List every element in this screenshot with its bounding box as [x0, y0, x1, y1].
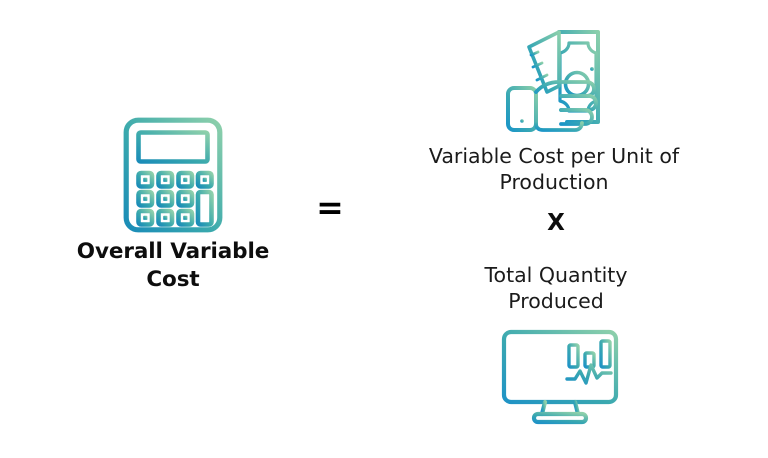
variable-cost-per-unit-label-line1: Variable Cost per Unit of: [396, 143, 712, 169]
variable-cost-per-unit-label-line2: Production: [396, 169, 712, 195]
calculator-icon: [123, 117, 223, 233]
overall-variable-cost-label-line1: Overall Variable: [38, 238, 308, 266]
overall-variable-cost-label: Overall Variable Cost: [38, 238, 308, 295]
total-quantity-produced-label: Total Quantity Produced: [436, 262, 676, 314]
total-quantity-produced-label-line2: Produced: [436, 288, 676, 314]
overall-variable-cost-label-line2: Cost: [38, 266, 308, 294]
diagram-canvas: Overall Variable Cost =: [0, 0, 768, 458]
multiply-operator: X: [476, 212, 636, 235]
cash-in-hand-icon: [503, 26, 605, 136]
variable-cost-per-unit-label: Variable Cost per Unit of Production: [396, 143, 712, 195]
equals-operator: =: [295, 191, 365, 224]
total-quantity-produced-label-line1: Total Quantity: [436, 262, 676, 288]
monitor-analytics-icon: [501, 329, 619, 424]
